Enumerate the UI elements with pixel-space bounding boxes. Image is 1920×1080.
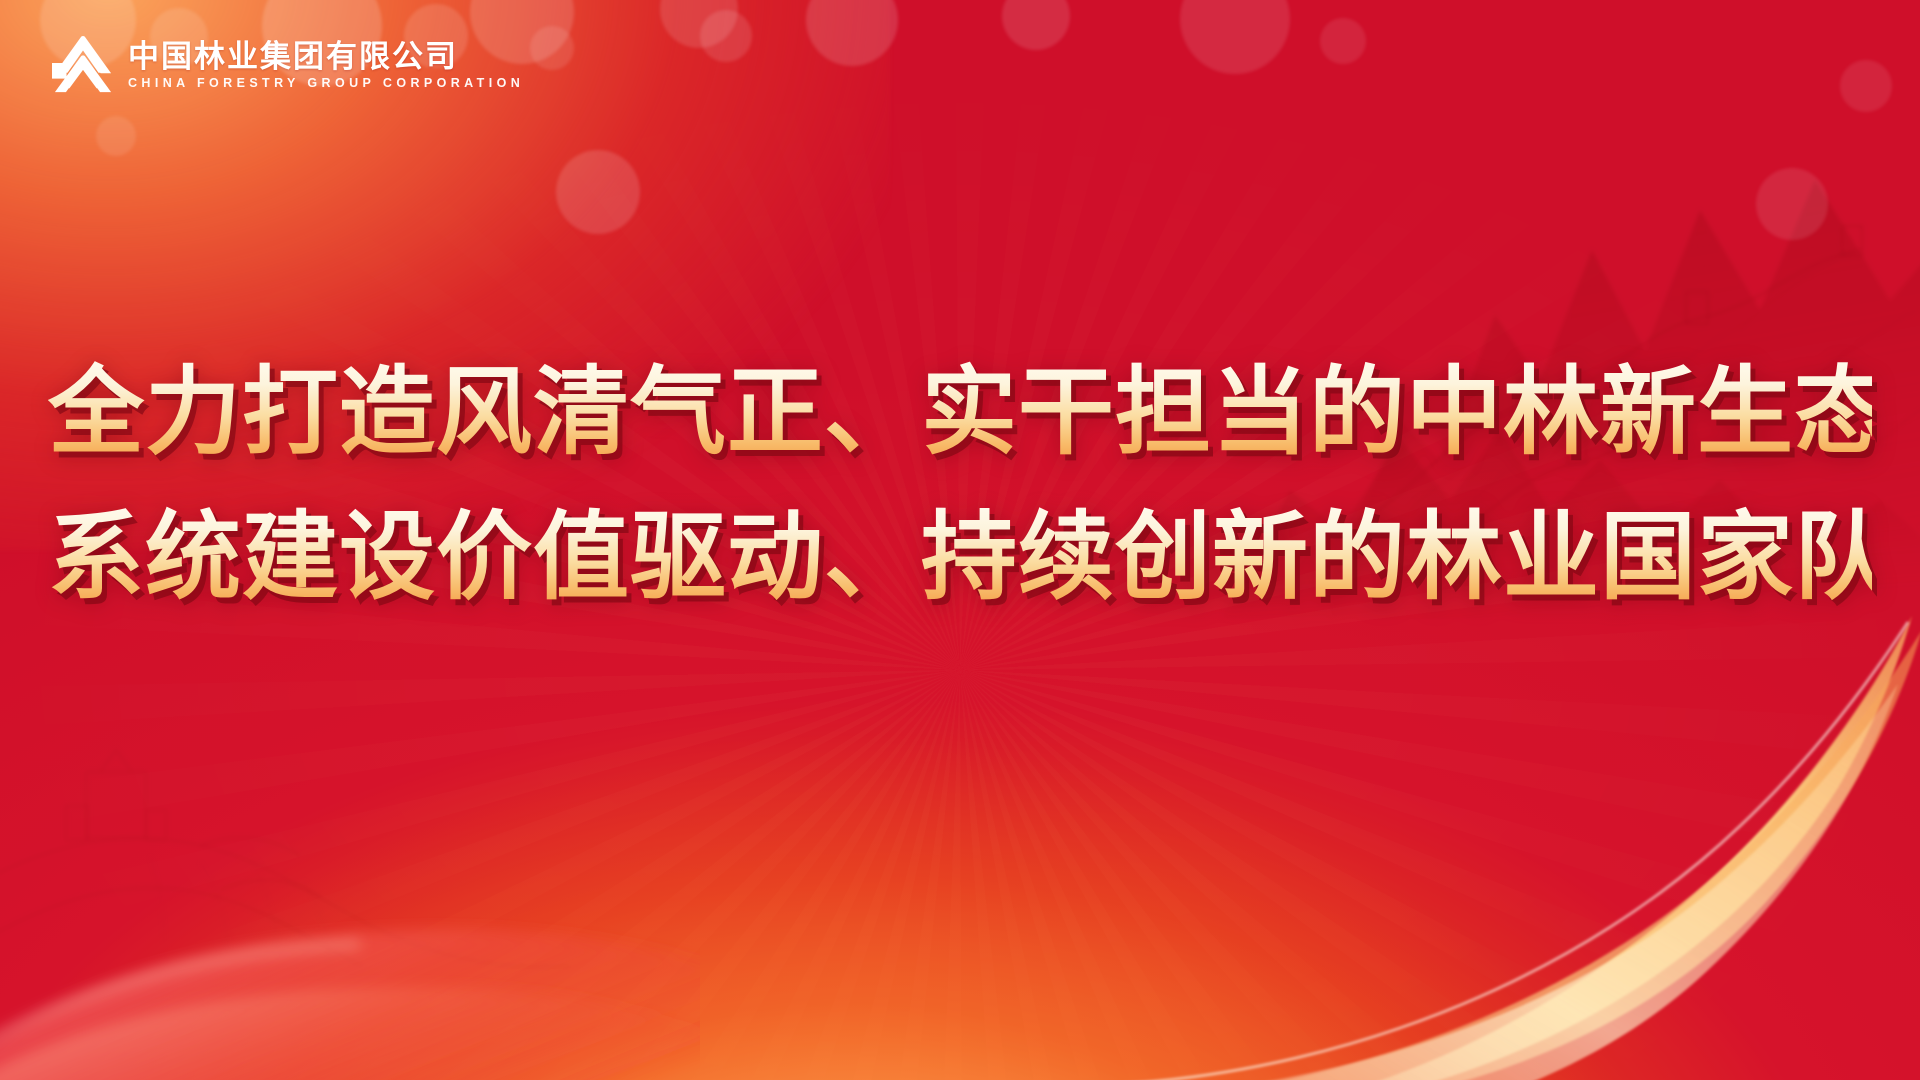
headline-line-1: 全力打造风清气正、实干担当的中林新生态	[48, 352, 1872, 475]
golden-swoosh-ribbon	[860, 580, 1920, 1080]
logo-name-en: CHINA FORESTRY GROUP CORPORATION	[128, 77, 524, 90]
silk-fold-drape	[0, 720, 700, 1080]
promo-banner: 中国林业集团有限公司 CHINA FORESTRY GROUP CORPORAT…	[0, 0, 1920, 1080]
headline-block: 全力打造风清气正、实干担当的中林新生态 系统建设价值驱动、持续创新的林业国家队	[0, 352, 1920, 620]
brand-logo[interactable]: 中国林业集团有限公司 CHINA FORESTRY GROUP CORPORAT…	[52, 34, 524, 96]
headline-line-2: 系统建设价值驱动、持续创新的林业国家队	[48, 497, 1872, 620]
logo-name-cn: 中国林业集团有限公司	[128, 41, 524, 72]
forestry-mountain-chevron-logo-icon	[52, 34, 114, 96]
